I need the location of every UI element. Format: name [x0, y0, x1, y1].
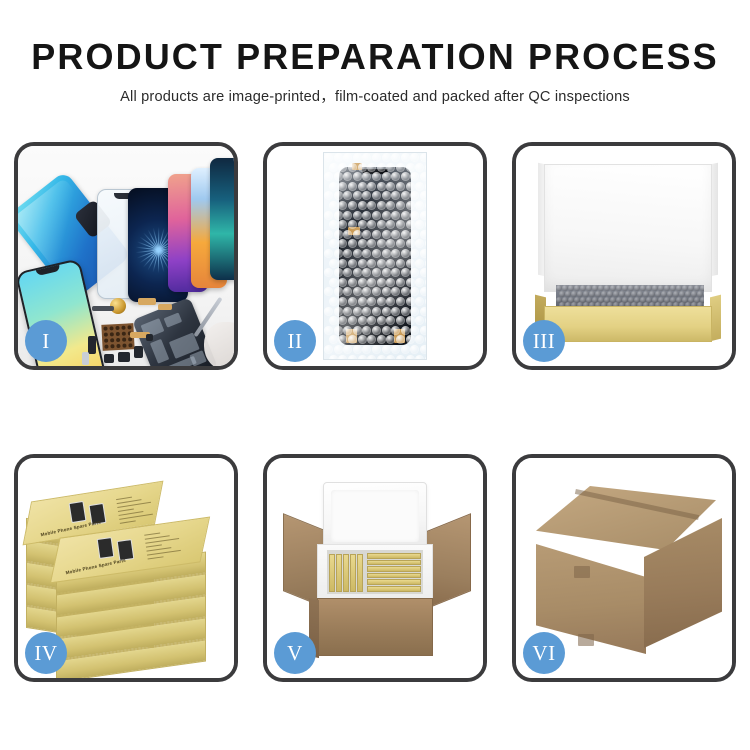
page-subtitle: All products are image-printed，film-coat… — [0, 85, 750, 106]
step-panel-5[interactable]: V — [263, 454, 487, 682]
packed-yellow-box — [343, 554, 349, 592]
packed-yellow-box — [329, 554, 335, 592]
spare-part — [82, 352, 89, 365]
step-panel-4[interactable]: Mobile Phone Spare Parts Mobile Phone Sp… — [14, 454, 238, 682]
process-steps-grid: I II — [14, 142, 736, 682]
printed-spec-lines — [116, 493, 158, 527]
plastic-sheen — [324, 153, 426, 359]
spare-part — [88, 336, 96, 354]
step-badge-5: V — [274, 632, 316, 674]
packed-yellow-box — [367, 560, 421, 566]
packed-yellow-box — [336, 554, 342, 592]
packed-yellow-box — [367, 573, 421, 579]
step-badge-1: I — [25, 320, 67, 362]
header: PRODUCT PREPARATION PROCESS All products… — [0, 0, 750, 106]
foam-box-lid — [323, 482, 427, 550]
packed-yellow-box — [367, 586, 421, 592]
step-badge-2: II — [274, 320, 316, 362]
flex-cable-part — [158, 304, 172, 310]
flex-cable-part — [138, 298, 156, 305]
white-foam-lid — [544, 164, 712, 292]
step-panel-2[interactable]: II — [263, 142, 487, 370]
hand — [204, 322, 234, 366]
step-badge-6: VI — [523, 632, 565, 674]
packed-yellow-box — [357, 554, 363, 592]
printed-phone-image — [97, 537, 115, 559]
step-badge-4: IV — [25, 632, 67, 674]
step-badge-3: III — [523, 320, 565, 362]
printed-spec-lines — [144, 529, 186, 562]
page-title: PRODUCT PREPARATION PROCESS — [0, 38, 750, 76]
bubble-wrap-bag — [323, 152, 427, 360]
spare-part — [134, 346, 143, 358]
carton-front-face — [317, 598, 433, 656]
packed-yellow-box — [367, 579, 421, 585]
carton-tab — [574, 566, 590, 578]
packed-yellow-box — [367, 566, 421, 572]
packed-yellow-box — [367, 553, 421, 559]
phone-display-teal — [210, 158, 234, 280]
printed-phone-image — [69, 501, 87, 523]
spare-part — [118, 352, 130, 362]
product-preparation-infographic: PRODUCT PREPARATION PROCESS All products… — [0, 0, 750, 750]
yellow-box-front — [544, 306, 712, 342]
spare-part — [104, 354, 114, 363]
spare-part — [146, 334, 153, 341]
step-panel-3[interactable]: III — [512, 142, 736, 370]
packed-yellow-box — [350, 554, 356, 592]
step-panel-6[interactable]: VI — [512, 454, 736, 682]
step-panel-1[interactable]: I — [14, 142, 238, 370]
spare-part — [92, 306, 114, 311]
packed-yellow-boxes — [327, 550, 423, 594]
carton-tab — [578, 634, 594, 646]
